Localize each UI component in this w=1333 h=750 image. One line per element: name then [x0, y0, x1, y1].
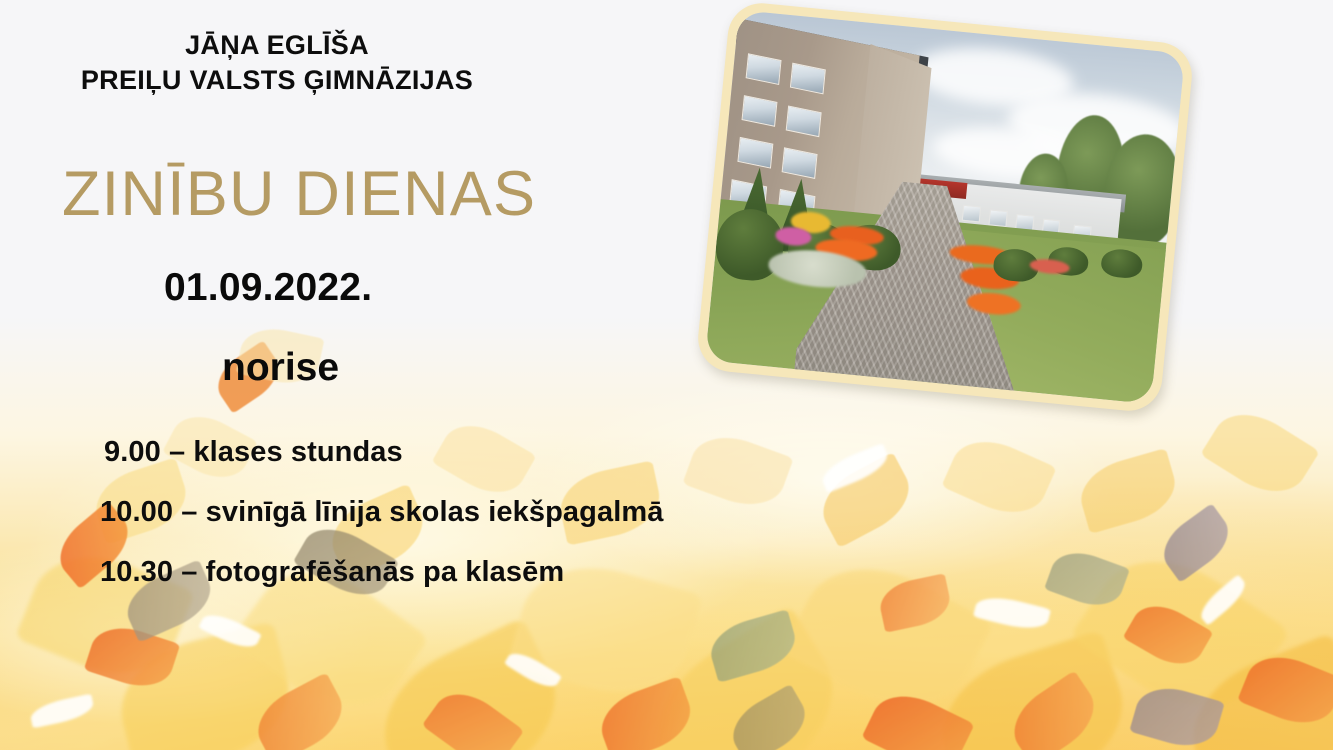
annex-window	[962, 205, 981, 222]
presentation-slide: JĀŅA EGLĪŠA PREIĻU VALSTS ĢIMNĀZIJAS ZIN…	[0, 0, 1333, 750]
page-title: ZINĪBU DIENAS	[62, 163, 536, 226]
school-name-line2: PREIĻU VALSTS ĢIMNĀZIJAS	[42, 63, 512, 98]
schedule-item: 9.00 – klases stundas	[104, 438, 1000, 467]
school-name-line1: JĀŅA EGLĪŠA	[42, 28, 512, 63]
schedule-item: 10.30 – fotografēšanās pa klasēm	[100, 558, 1000, 587]
school-name: JĀŅA EGLĪŠA PREIĻU VALSTS ĢIMNĀZIJAS	[42, 28, 512, 98]
schedule-list: 9.00 – klases stundas 10.00 – svinīgā lī…	[100, 438, 1000, 618]
annex-window	[988, 210, 1007, 227]
event-date: 01.09.2022.	[164, 268, 372, 307]
school-photo	[695, 0, 1195, 414]
school-building-courtyard-photo	[705, 10, 1185, 404]
event-subtitle: norise	[222, 348, 339, 387]
schedule-item: 10.00 – svinīgā līnija skolas iekšpagalm…	[100, 498, 1000, 527]
photo-frame-border	[695, 0, 1195, 414]
